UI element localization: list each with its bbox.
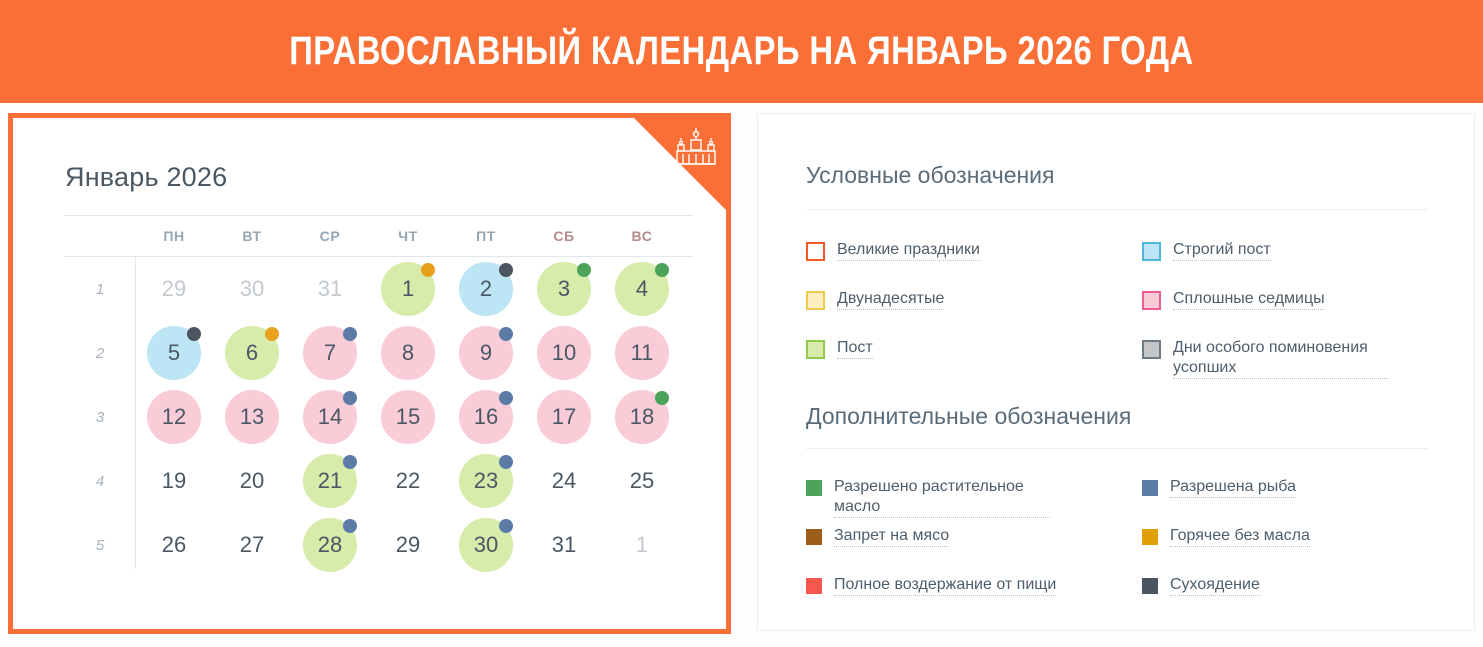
day-number: 1 (402, 276, 414, 302)
day-number: 6 (246, 340, 258, 366)
weekday-header-row: ПНВТСРЧТПТСБВС (65, 216, 693, 256)
page-root: ПРАВОСЛАВНЫЙ КАЛЕНДАРЬ НА ЯНВАРЬ 2026 ГО… (0, 0, 1483, 647)
day-marker: 11 (615, 326, 669, 380)
church-icon (674, 126, 718, 166)
calendar-day-cell[interactable]: 31 (291, 257, 369, 321)
legend-swatch (1142, 291, 1161, 310)
weekday-header-сб: СБ (525, 228, 603, 244)
legend-item-сплошные-седмицы[interactable]: Сплошные седмицы (1142, 289, 1325, 310)
day-marker: 29 (381, 518, 435, 572)
legend-main-items: Великие праздникиСтрогий постДвунадесяты… (806, 240, 1428, 410)
legend-label: Пост (837, 338, 873, 359)
day-marker: 30 (225, 262, 279, 316)
calendar-day-cell[interactable]: 29 (369, 513, 447, 577)
day-number: 11 (631, 340, 654, 366)
legend-item-разрешена-рыба[interactable]: Разрешена рыба (1142, 477, 1296, 498)
calendar-day-cell[interactable]: 4 (603, 257, 681, 321)
legend-item-разрешено-растительное-масло[interactable]: Разрешено растительное масло (806, 477, 1050, 518)
legend-swatch (1142, 480, 1158, 496)
calendar-week-row: 419202122232425 (65, 449, 693, 513)
day-rows: 1293031123425678910113121314151617184192… (65, 257, 693, 577)
weekday-header-пт: ПТ (447, 228, 525, 244)
legend-label: Двунадесятые (837, 289, 944, 310)
legend-label: Строгий пост (1173, 240, 1271, 261)
day-marker: 10 (537, 326, 591, 380)
calendar-day-cell[interactable]: 26 (135, 513, 213, 577)
day-indicator-dot-green (655, 391, 669, 405)
legend-label: Великие праздники (837, 240, 980, 261)
calendar-card: Январь 2026 ПНВТСРЧТПТСБВС 1293031123425… (8, 113, 731, 634)
page-title: ПРАВОСЛАВНЫЙ КАЛЕНДАРЬ НА ЯНВАРЬ 2026 ГО… (289, 29, 1193, 74)
day-indicator-dot-darkgray (187, 327, 201, 341)
day-marker: 12 (147, 390, 201, 444)
day-indicator-dot-blue (343, 455, 357, 469)
weekday-header-ср: СР (291, 228, 369, 244)
page-banner: ПРАВОСЛАВНЫЙ КАЛЕНДАРЬ НА ЯНВАРЬ 2026 ГО… (0, 0, 1483, 103)
week-number: 4 (65, 473, 135, 490)
legend-label: Сплошные седмицы (1173, 289, 1325, 310)
day-number: 26 (162, 532, 186, 558)
legend-item-горячее-без-масла[interactable]: Горячее без масла (1142, 526, 1310, 547)
calendar-day-cell[interactable]: 30 (447, 513, 525, 577)
legend-item-двунадесятые[interactable]: Двунадесятые (806, 289, 944, 310)
day-marker: 27 (225, 518, 279, 572)
legend-item-дни-особого-поминовения-усопших[interactable]: Дни особого поминовения усопших (1142, 338, 1389, 379)
legend-item-строгий-пост[interactable]: Строгий пост (1142, 240, 1271, 261)
calendar-day-cell[interactable]: 11 (603, 321, 681, 385)
legend-swatch (806, 242, 825, 261)
day-number: 29 (396, 532, 420, 558)
legend-extra-items: Разрешено растительное маслоРазрешена ры… (806, 477, 1428, 637)
day-marker: 1 (615, 518, 669, 572)
day-marker: 24 (537, 454, 591, 508)
calendar-week-row: 312131415161718 (65, 385, 693, 449)
legend-panel: Условные обозначения Великие праздникиСт… (757, 113, 1475, 631)
week-number: 2 (65, 345, 135, 362)
day-marker: 25 (615, 454, 669, 508)
day-number: 3 (558, 276, 570, 302)
calendar-day-cell[interactable]: 24 (525, 449, 603, 513)
legend-label: Разрешена рыба (1170, 477, 1296, 498)
legend-item-полное-воздержание-от-пищи[interactable]: Полное воздержание от пищи (806, 575, 1056, 596)
legend-swatch (1142, 242, 1161, 261)
day-number: 18 (630, 404, 654, 430)
legend-swatch (1142, 340, 1161, 359)
calendar-day-cell[interactable]: 1 (369, 257, 447, 321)
calendar-day-cell[interactable]: 16 (447, 385, 525, 449)
weekday-header-вт: ВТ (213, 228, 291, 244)
day-marker: 16 (459, 390, 513, 444)
calendar-day-cell[interactable]: 22 (369, 449, 447, 513)
day-marker: 28 (303, 518, 357, 572)
day-indicator-dot-blue (499, 391, 513, 405)
calendar-day-cell[interactable]: 2 (447, 257, 525, 321)
day-number: 1 (636, 532, 648, 558)
day-marker: 20 (225, 454, 279, 508)
legend-main-heading: Условные обозначения (806, 162, 1428, 189)
calendar-day-cell[interactable]: 7 (291, 321, 369, 385)
day-marker: 3 (537, 262, 591, 316)
week-number: 3 (65, 409, 135, 426)
calendar-day-cell[interactable]: 6 (213, 321, 291, 385)
day-marker: 6 (225, 326, 279, 380)
day-marker: 13 (225, 390, 279, 444)
week-number: 1 (65, 281, 135, 298)
day-number: 9 (480, 340, 492, 366)
calendar-day-cell[interactable]: 31 (525, 513, 603, 577)
day-marker: 8 (381, 326, 435, 380)
legend-swatch (806, 578, 822, 594)
calendar-day-cell[interactable]: 14 (291, 385, 369, 449)
legend-item-великие-праздники[interactable]: Великие праздники (806, 240, 980, 261)
calendar-week-row: 52627282930311 (65, 513, 693, 577)
legend-label: Сухоядение (1170, 575, 1260, 596)
day-number: 25 (630, 468, 654, 494)
calendar-day-cell[interactable]: 30 (213, 257, 291, 321)
day-number: 21 (318, 468, 342, 494)
day-number: 28 (318, 532, 342, 558)
calendar-month-title: Январь 2026 (65, 162, 227, 193)
day-marker: 14 (303, 390, 357, 444)
week-number: 5 (65, 537, 135, 554)
calendar-day-cell[interactable]: 29 (135, 257, 213, 321)
day-number: 5 (168, 340, 180, 366)
calendar-day-cell[interactable]: 19 (135, 449, 213, 513)
calendar-day-cell[interactable]: 3 (525, 257, 603, 321)
legend-item-запрет-на-мясо[interactable]: Запрет на мясо (806, 526, 949, 547)
legend-label: Запрет на мясо (834, 526, 949, 547)
legend-label: Разрешено растительное масло (834, 477, 1050, 518)
day-number: 7 (324, 340, 336, 366)
calendar-day-cell[interactable]: 28 (291, 513, 369, 577)
legend-swatch (806, 480, 822, 496)
day-marker: 26 (147, 518, 201, 572)
legend-swatch (806, 291, 825, 310)
calendar-day-cell[interactable]: 18 (603, 385, 681, 449)
day-marker: 4 (615, 262, 669, 316)
day-marker: 22 (381, 454, 435, 508)
calendar-day-cell[interactable]: 10 (525, 321, 603, 385)
day-number: 10 (552, 340, 576, 366)
day-marker: 9 (459, 326, 513, 380)
day-marker: 29 (147, 262, 201, 316)
day-indicator-dot-blue (343, 519, 357, 533)
day-number: 13 (240, 404, 264, 430)
calendar-day-cell[interactable]: 23 (447, 449, 525, 513)
day-number: 27 (240, 532, 264, 558)
calendar-day-cell[interactable]: 13 (213, 385, 291, 449)
day-indicator-dot-blue (499, 327, 513, 341)
day-number: 31 (318, 276, 342, 302)
weekday-header-пн: ПН (135, 228, 213, 244)
day-number: 30 (474, 532, 498, 558)
weekday-header-чт: ЧТ (369, 228, 447, 244)
day-number: 24 (552, 468, 576, 494)
calendar-day-cell[interactable]: 17 (525, 385, 603, 449)
day-indicator-dot-orange (265, 327, 279, 341)
legend-swatch (806, 340, 825, 359)
legend-item-сухоядение[interactable]: Сухоядение (1142, 575, 1260, 596)
calendar-day-cell[interactable]: 9 (447, 321, 525, 385)
day-marker: 31 (303, 262, 357, 316)
day-marker: 1 (381, 262, 435, 316)
calendar-day-cell[interactable]: 1 (603, 513, 681, 577)
day-indicator-dot-green (577, 263, 591, 277)
legend-main-separator (806, 209, 1428, 210)
day-number: 20 (240, 468, 264, 494)
day-number: 12 (162, 404, 186, 430)
day-marker: 17 (537, 390, 591, 444)
weekday-header-вс: ВС (603, 228, 681, 244)
day-number: 22 (396, 468, 420, 494)
day-number: 30 (240, 276, 264, 302)
day-marker: 15 (381, 390, 435, 444)
day-number: 16 (474, 404, 498, 430)
day-marker: 23 (459, 454, 513, 508)
calendar-day-cell[interactable]: 12 (135, 385, 213, 449)
day-number: 8 (402, 340, 414, 366)
day-marker: 2 (459, 262, 513, 316)
day-number: 14 (318, 404, 342, 430)
legend-main-section: Условные обозначения Великие праздникиСт… (806, 162, 1428, 410)
day-number: 2 (480, 276, 492, 302)
calendar-day-cell[interactable]: 25 (603, 449, 681, 513)
legend-extra-separator (806, 448, 1428, 449)
day-indicator-dot-blue (343, 391, 357, 405)
calendar-day-cell[interactable]: 8 (369, 321, 447, 385)
calendar-day-cell[interactable]: 20 (213, 449, 291, 513)
day-number: 4 (636, 276, 648, 302)
calendar-day-cell[interactable]: 5 (135, 321, 213, 385)
legend-swatch (1142, 529, 1158, 545)
day-marker: 18 (615, 390, 669, 444)
legend-extra-section: Дополнительные обозначения Разрешено рас… (806, 403, 1428, 637)
calendar-body: 1293031123425678910113121314151617184192… (65, 257, 693, 577)
day-marker: 31 (537, 518, 591, 572)
day-indicator-dot-darkgray (499, 263, 513, 277)
calendar-day-cell[interactable]: 27 (213, 513, 291, 577)
day-indicator-dot-blue (499, 519, 513, 533)
day-number: 23 (474, 468, 498, 494)
day-number: 29 (162, 276, 186, 302)
legend-label: Горячее без масла (1170, 526, 1310, 547)
calendar-week-row: 12930311234 (65, 257, 693, 321)
day-number: 19 (162, 468, 186, 494)
legend-label: Дни особого поминовения усопших (1173, 338, 1389, 379)
day-number: 15 (396, 404, 420, 430)
calendar-grid: ПНВТСРЧТПТСБВС 1293031123425678910113121… (65, 215, 693, 577)
legend-swatch (806, 529, 822, 545)
day-marker: 7 (303, 326, 357, 380)
legend-extra-heading: Дополнительные обозначения (806, 403, 1428, 430)
day-number: 31 (552, 532, 576, 558)
calendar-day-cell[interactable]: 15 (369, 385, 447, 449)
legend-label: Полное воздержание от пищи (834, 575, 1056, 596)
calendar-week-row: 2567891011 (65, 321, 693, 385)
calendar-day-cell[interactable]: 21 (291, 449, 369, 513)
day-indicator-dot-green (655, 263, 669, 277)
legend-item-пост[interactable]: Пост (806, 338, 873, 359)
day-marker: 21 (303, 454, 357, 508)
day-indicator-dot-blue (343, 327, 357, 341)
day-number: 17 (552, 404, 576, 430)
day-indicator-dot-orange (421, 263, 435, 277)
day-marker: 19 (147, 454, 201, 508)
day-indicator-dot-blue (499, 455, 513, 469)
weekday-cells: ПНВТСРЧТПТСБВС (135, 228, 681, 244)
legend-swatch (1142, 578, 1158, 594)
day-marker: 30 (459, 518, 513, 572)
day-marker: 5 (147, 326, 201, 380)
